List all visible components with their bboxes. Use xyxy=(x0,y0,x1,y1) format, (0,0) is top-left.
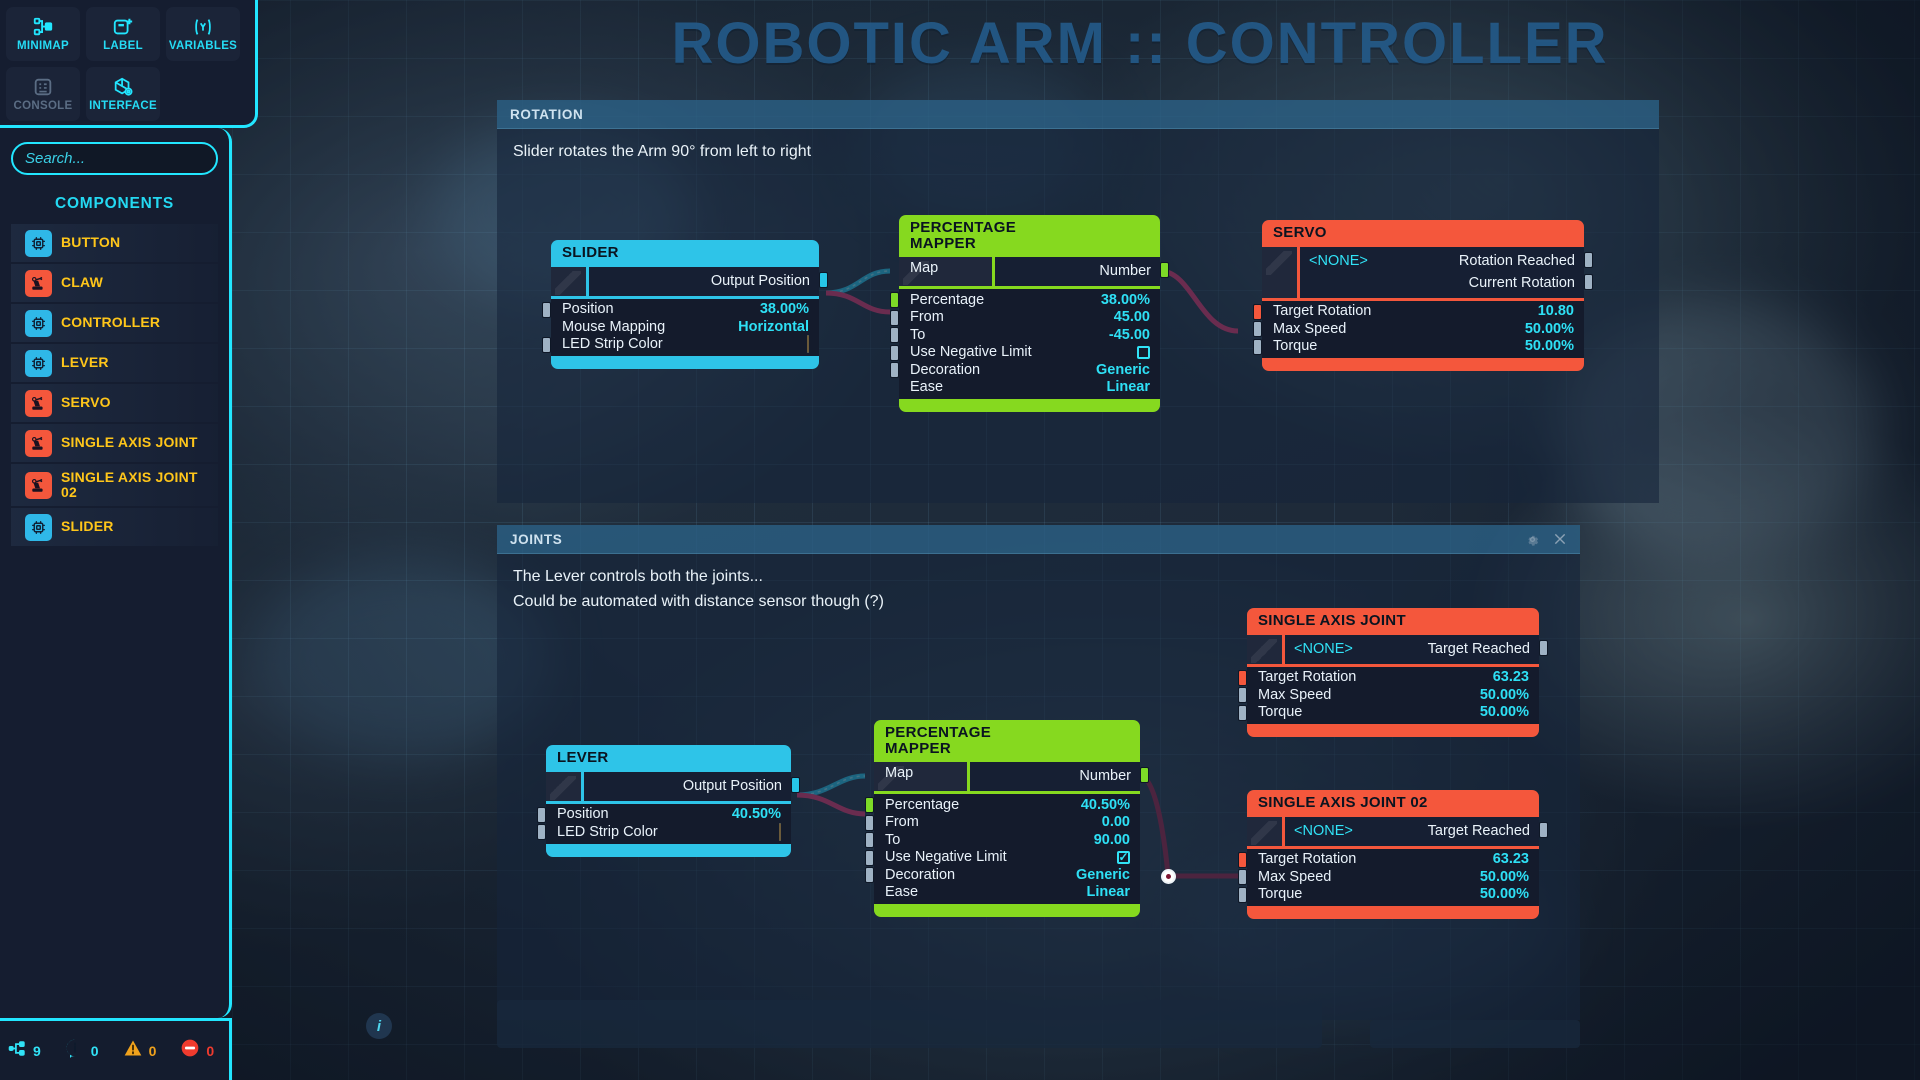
panel-joints-header[interactable]: JOINTS xyxy=(497,525,1580,554)
node-servo-icon-slot xyxy=(1262,247,1300,298)
chip-icon xyxy=(25,310,52,337)
page-title: ROBOTIC ARM :: CONTROLLER xyxy=(0,10,1920,77)
node-joint1-footer xyxy=(1247,724,1539,737)
input-pin[interactable] xyxy=(890,362,899,378)
panel-rotation-title: ROTATION xyxy=(510,107,583,122)
status-info[interactable]: 0 xyxy=(65,1038,99,1063)
node-slider-icon-slot xyxy=(551,267,589,296)
prop-row[interactable]: Decoration Generic xyxy=(899,361,1160,379)
node-joint2-output-0[interactable]: <NONE> Target Reached xyxy=(1294,820,1530,842)
toolbar-button-label[interactable]: LABEL xyxy=(86,7,160,61)
node-lever-title: LEVER xyxy=(546,745,791,772)
prop-row[interactable]: To -45.00 xyxy=(899,326,1160,344)
input-pin[interactable] xyxy=(542,302,551,318)
node-mapper1-footer xyxy=(899,399,1160,412)
prop-row[interactable]: From 0.00 xyxy=(874,814,1140,832)
search-input[interactable] xyxy=(25,150,204,167)
node-mapper1-io: Map Number xyxy=(899,257,1160,286)
node-joint1-io: <NONE> Target Reached xyxy=(1247,635,1539,664)
sidebar-item-single-axis-joint-02[interactable]: SINGLE AXIS JOINT 02 xyxy=(11,464,218,506)
input-pin[interactable] xyxy=(1253,321,1262,337)
input-pin[interactable] xyxy=(542,337,551,353)
sidebar-item-label: BUTTON xyxy=(61,235,120,250)
sidebar-item-label: CLAW xyxy=(61,275,103,290)
input-pin[interactable] xyxy=(865,867,874,883)
toolbar-button-interface[interactable]: INTERFACE xyxy=(86,67,160,121)
status-warnings[interactable]: 0 xyxy=(123,1038,157,1063)
robot-icon xyxy=(25,390,52,417)
sidebar-item-label: CONTROLLER xyxy=(61,315,160,330)
input-pin[interactable] xyxy=(1238,852,1247,868)
panel-rotation-header[interactable]: ROTATION xyxy=(497,100,1659,129)
node-slider-output-0[interactable]: Output Position xyxy=(598,270,810,292)
joints-panel-footer-strip xyxy=(497,1000,1322,1048)
use-negative-limit-checkbox[interactable] xyxy=(1117,851,1130,864)
prop-row[interactable]: Torque 50.00% xyxy=(1247,704,1539,722)
node-mapper1-input-label: Map xyxy=(910,260,938,276)
output-pin[interactable] xyxy=(791,777,800,793)
canvas-info-button[interactable]: i xyxy=(366,1013,392,1039)
robot-icon xyxy=(25,472,52,499)
input-pin[interactable] xyxy=(865,797,874,813)
error-icon xyxy=(180,1038,200,1063)
toolbar-button-minimap[interactable]: MINIMAP xyxy=(6,7,80,61)
node-servo[interactable]: SERVO <NONE> Rotation Reached Current Ro… xyxy=(1262,220,1584,371)
canvas-footer-strip xyxy=(1370,1020,1580,1048)
output-pin[interactable] xyxy=(1160,262,1169,278)
node-slider-footer xyxy=(551,356,819,369)
prop-row[interactable]: Percentage 38.00% xyxy=(899,291,1160,309)
prop-row[interactable]: Ease Linear xyxy=(874,884,1140,902)
status-bar: 9 0 0 xyxy=(0,1018,232,1080)
node-lever-io: Output Position xyxy=(546,772,791,801)
input-pin[interactable] xyxy=(890,327,899,343)
node-slider-title: SLIDER xyxy=(551,240,819,267)
chip-icon xyxy=(25,514,52,541)
node-single-axis-joint-02[interactable]: SINGLE AXIS JOINT 02 <NONE> Target Reach… xyxy=(1247,790,1539,919)
reroute-node[interactable] xyxy=(1161,869,1176,884)
node-servo-output-1[interactable]: Current Rotation xyxy=(1309,272,1575,294)
node-joint1-output-0[interactable]: <NONE> Target Reached xyxy=(1294,638,1530,660)
input-pin[interactable] xyxy=(1238,887,1247,903)
app-root: ROBOTIC ARM :: CONTROLLER ROTATION Slide… xyxy=(0,0,1920,1080)
sidebar-item-lever[interactable]: LEVER xyxy=(11,344,218,382)
node-servo-props: Target Rotation 10.80 Max Speed 50.00% T… xyxy=(1262,301,1584,359)
input-pin[interactable] xyxy=(1238,687,1247,703)
sidebar-item-controller[interactable]: CONTROLLER xyxy=(11,304,218,342)
prop-row[interactable]: Torque 50.00% xyxy=(1262,338,1584,356)
sidebar-item-label: SLIDER xyxy=(61,519,114,534)
panel-rotation-note-0: Slider rotates the Arm 90° from left to … xyxy=(513,143,1643,161)
use-negative-limit-checkbox[interactable] xyxy=(1137,346,1150,359)
prop-row[interactable]: Ease Linear xyxy=(899,379,1160,397)
prop-row[interactable]: LED Strip Color xyxy=(551,336,819,354)
gear-icon[interactable] xyxy=(1525,532,1540,547)
info-icon xyxy=(65,1038,85,1063)
input-pin[interactable] xyxy=(865,815,874,831)
node-servo-io: <NONE> Rotation Reached Current Rotation xyxy=(1262,247,1584,298)
prop-row[interactable]: Use Negative Limit xyxy=(899,344,1160,362)
node-mapper2-input-label: Map xyxy=(885,765,913,781)
node-graph-icon xyxy=(8,1039,27,1063)
output-pin[interactable] xyxy=(1539,640,1548,656)
prop-row[interactable]: Decoration Generic xyxy=(874,866,1140,884)
node-joint2-title: SINGLE AXIS JOINT 02 xyxy=(1247,790,1539,817)
panel-joints-actions xyxy=(1525,532,1567,547)
warning-icon xyxy=(123,1038,143,1063)
console-icon xyxy=(32,76,54,98)
components-heading: COMPONENTS xyxy=(11,195,218,213)
node-joint1-props: Target Rotation 63.23 Max Speed 50.00% T… xyxy=(1247,667,1539,725)
prop-row[interactable]: Max Speed 50.00% xyxy=(1247,868,1539,886)
sidebar-item-label: SERVO xyxy=(61,395,111,410)
node-lever-footer xyxy=(546,844,791,857)
node-lever[interactable]: LEVER Output Position Position 40.50% LE… xyxy=(546,745,791,857)
node-mapper2-footer xyxy=(874,904,1140,917)
chip-icon xyxy=(25,230,52,257)
status-errors[interactable]: 0 xyxy=(180,1038,214,1063)
node-servo-footer xyxy=(1262,358,1584,371)
sidebar-item-label: SINGLE AXIS JOINT 02 xyxy=(61,470,211,500)
sidebar-item-servo[interactable]: SERVO xyxy=(11,384,218,422)
sidebar-item-slider[interactable]: SLIDER xyxy=(11,508,218,546)
output-pin[interactable] xyxy=(1140,767,1149,783)
node-lever-icon-slot xyxy=(546,772,584,801)
prop-row[interactable]: From 45.00 xyxy=(899,309,1160,327)
prop-row[interactable]: Torque 50.00% xyxy=(1247,886,1539,904)
node-single-axis-joint[interactable]: SINGLE AXIS JOINT <NONE> Target Reached … xyxy=(1247,608,1539,737)
prop-row[interactable]: Max Speed 50.00% xyxy=(1262,320,1584,338)
sidebar-item-button[interactable]: BUTTON xyxy=(11,224,218,262)
prop-row[interactable]: Mouse Mapping Horizontal xyxy=(551,318,819,336)
panel-joints-note-0: The Lever controls both the joints... xyxy=(513,568,1564,586)
node-percentage-mapper-1[interactable]: PERCENTAGE MAPPER Map Number Percentage … xyxy=(899,215,1160,412)
node-percentage-mapper-2[interactable]: PERCENTAGE MAPPER Map Number Percentage … xyxy=(874,720,1140,917)
prop-row[interactable]: To 90.00 xyxy=(874,831,1140,849)
input-pin[interactable] xyxy=(865,850,874,866)
node-mapper1-output-0[interactable]: Number xyxy=(1004,260,1151,282)
led-color-swatch[interactable] xyxy=(807,335,809,353)
output-pin[interactable] xyxy=(1539,822,1548,838)
input-pin[interactable] xyxy=(865,832,874,848)
node-slider[interactable]: SLIDER Output Position Position 38.00% M… xyxy=(551,240,819,369)
node-mapper1-props: Percentage 38.00% From 45.00 To -45.00 U… xyxy=(899,289,1160,399)
sidebar-item-claw[interactable]: CLAW xyxy=(11,264,218,302)
status-nodes-value: 9 xyxy=(33,1043,41,1059)
output-pin[interactable] xyxy=(819,272,828,288)
node-lever-output-0[interactable]: Output Position xyxy=(593,775,782,797)
node-mapper2-title: PERCENTAGE MAPPER xyxy=(874,720,1140,762)
status-info-value: 0 xyxy=(91,1043,99,1059)
node-slider-props: Position 38.00% Mouse Mapping Horizontal… xyxy=(551,299,819,357)
node-joint2-footer xyxy=(1247,906,1539,919)
node-joint1-title: SINGLE AXIS JOINT xyxy=(1247,608,1539,635)
input-pin[interactable] xyxy=(890,292,899,308)
node-lever-props: Position 40.50% LED Strip Color xyxy=(546,804,791,844)
sidebar-item-label: LEVER xyxy=(61,355,109,370)
chip-icon xyxy=(25,350,52,377)
sidebar-item-label: SINGLE AXIS JOINT xyxy=(61,435,198,450)
input-pin[interactable] xyxy=(537,824,546,840)
sidebar-item-single-axis-joint[interactable]: SINGLE AXIS JOINT xyxy=(11,424,218,462)
node-servo-output-0[interactable]: <NONE> Rotation Reached xyxy=(1309,250,1575,272)
node-joint2-io: <NONE> Target Reached xyxy=(1247,817,1539,846)
input-pin[interactable] xyxy=(890,345,899,361)
prop-row[interactable]: Position 38.00% xyxy=(551,301,819,319)
toolbar-button-variables[interactable]: VARIABLES xyxy=(166,7,240,61)
node-mapper1-input-slot: Map xyxy=(899,257,995,286)
output-pin[interactable] xyxy=(1584,274,1593,290)
prop-row[interactable]: Position 40.50% xyxy=(546,806,791,824)
input-pin[interactable] xyxy=(537,807,546,823)
led-color-swatch[interactable] xyxy=(779,823,781,841)
variables-icon xyxy=(192,16,214,38)
close-icon[interactable] xyxy=(1553,532,1567,546)
node-mapper2-output-0[interactable]: Number xyxy=(979,765,1131,787)
output-pin[interactable] xyxy=(1584,252,1593,268)
input-pin[interactable] xyxy=(890,310,899,326)
toolbar-button-console[interactable]: CONSOLE xyxy=(6,67,80,121)
node-mapper1-title: PERCENTAGE MAPPER xyxy=(899,215,1160,257)
node-mapper2-input-slot: Map xyxy=(874,762,970,791)
label-plus-icon xyxy=(112,16,134,38)
robot-icon xyxy=(25,430,52,457)
node-joint2-icon-slot xyxy=(1247,817,1285,846)
input-pin[interactable] xyxy=(1253,304,1262,320)
status-nodes[interactable]: 9 xyxy=(8,1039,41,1063)
prop-row[interactable]: Target Rotation 63.23 xyxy=(1247,669,1539,687)
status-warnings-value: 0 xyxy=(149,1043,157,1059)
panel-joints-title: JOINTS xyxy=(510,532,562,547)
input-pin[interactable] xyxy=(1238,869,1247,885)
input-pin[interactable] xyxy=(1238,670,1247,686)
prop-row[interactable]: Target Rotation 63.23 xyxy=(1247,851,1539,869)
search-box[interactable] xyxy=(11,142,218,175)
prop-row[interactable]: LED Strip Color xyxy=(546,823,791,841)
prop-row[interactable]: Use Negative Limit xyxy=(874,849,1140,867)
node-slider-io: Output Position xyxy=(551,267,819,296)
prop-row[interactable]: Percentage 40.50% xyxy=(874,796,1140,814)
node-joint1-icon-slot xyxy=(1247,635,1285,664)
input-pin[interactable] xyxy=(1238,705,1247,721)
sidebar: COMPONENTS BUTTON CLAW xyxy=(0,128,232,1018)
minimap-icon xyxy=(32,16,54,38)
node-mapper2-props: Percentage 40.50% From 0.00 To 90.00 Use… xyxy=(874,794,1140,904)
node-servo-title: SERVO xyxy=(1262,220,1584,247)
toolbar: MINIMAP LABEL VARIABLES xyxy=(0,0,258,128)
input-pin[interactable] xyxy=(1253,339,1262,355)
interface-icon xyxy=(112,76,134,98)
node-joint2-props: Target Rotation 63.23 Max Speed 50.00% T… xyxy=(1247,849,1539,907)
prop-row[interactable]: Target Rotation 10.80 xyxy=(1262,303,1584,321)
node-mapper2-io: Map Number xyxy=(874,762,1140,791)
status-errors-value: 0 xyxy=(206,1043,214,1059)
prop-row[interactable]: Max Speed 50.00% xyxy=(1247,686,1539,704)
robot-icon xyxy=(25,270,52,297)
